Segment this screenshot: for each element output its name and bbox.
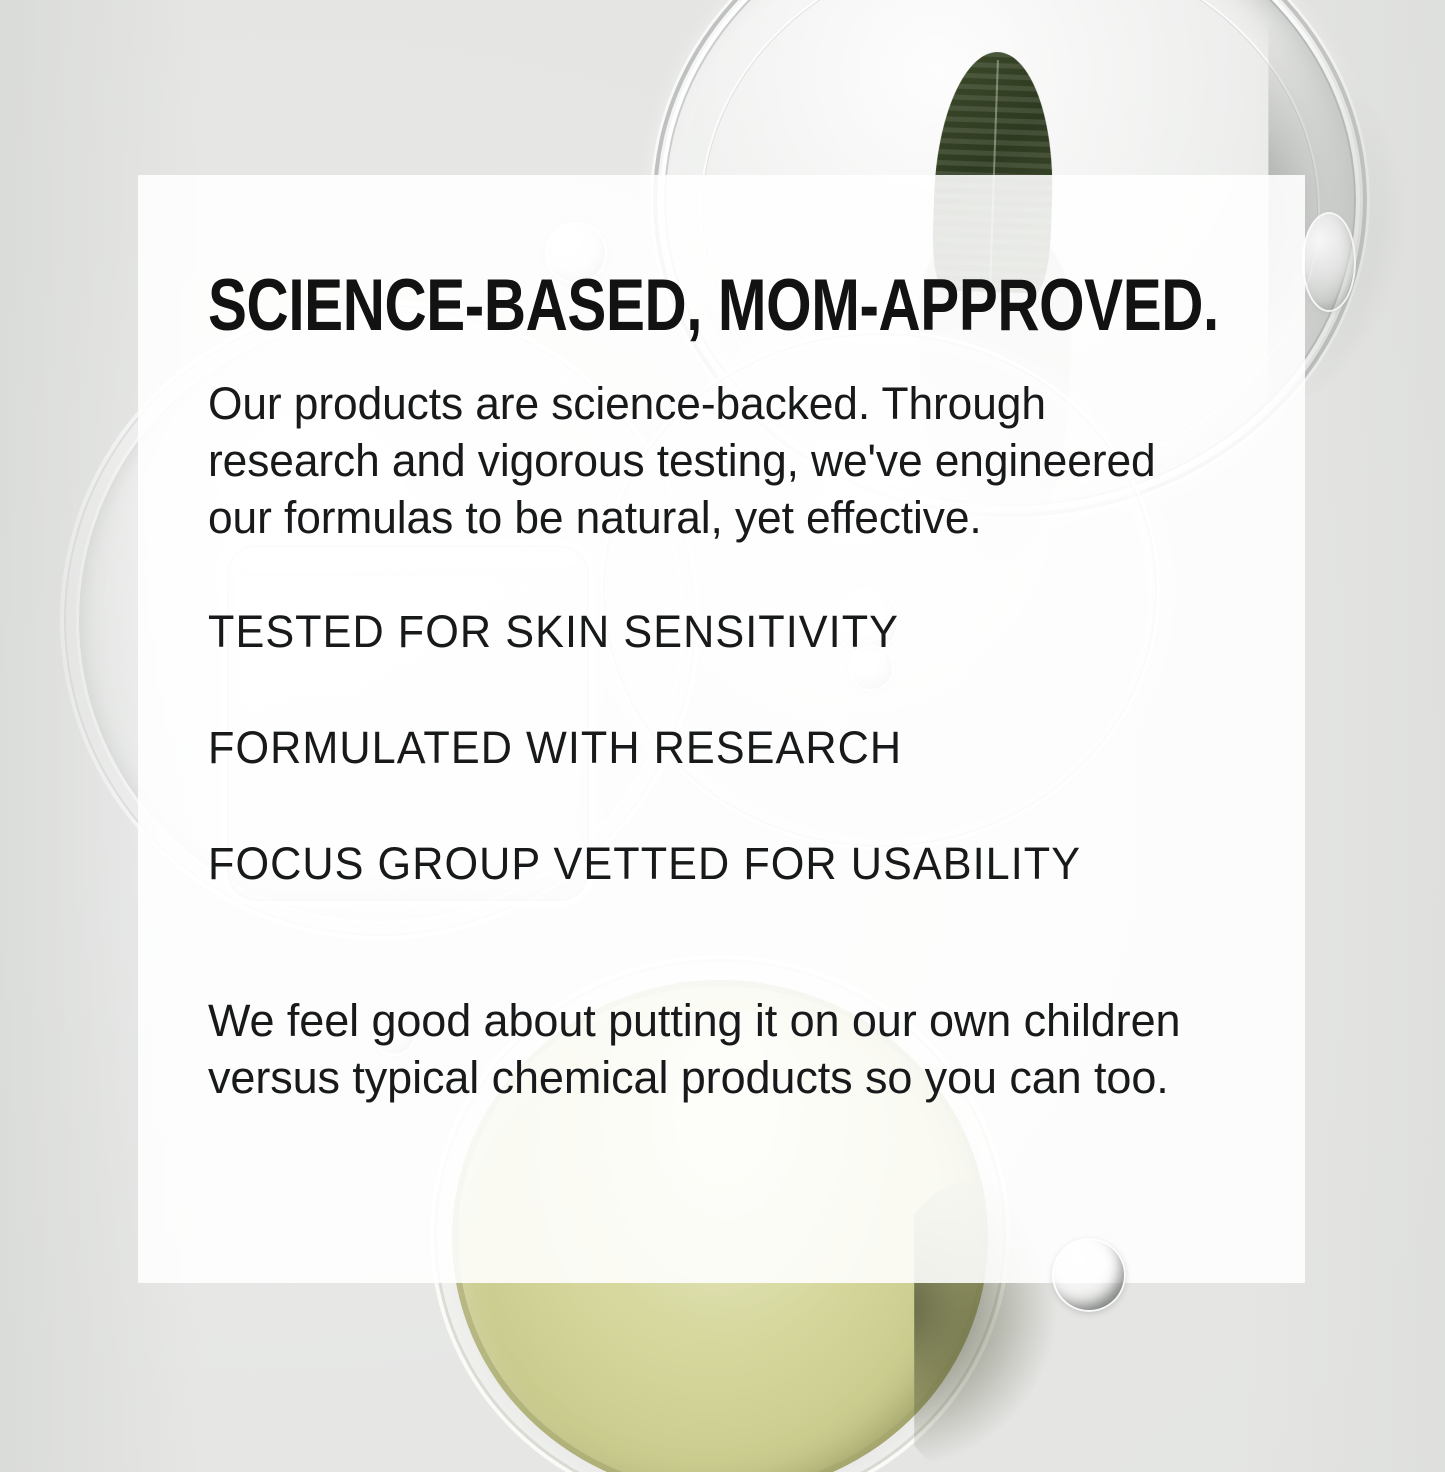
promotional-graphic: SCIENCE-BASED, MOM-APPROVED. Our product… [0,0,1445,1472]
page-title: SCIENCE-BASED, MOM-APPROVED. [208,272,1086,339]
feature-item-usability: FOCUS GROUP VETTED FOR USABILITY [208,841,1261,886]
water-droplet-icon [1302,212,1356,312]
feature-item-research: FORMULATED WITH RESEARCH [208,725,1261,770]
feature-item-skin-sensitivity: TESTED FOR SKIN SENSITIVITY [208,609,1261,654]
water-droplet-icon [1052,1238,1126,1312]
feature-list: TESTED FOR SKIN SENSITIVITY FORMULATED W… [208,609,1305,886]
intro-paragraph: Our products are science-backed. Through… [208,375,1193,546]
text-overlay-panel: SCIENCE-BASED, MOM-APPROVED. Our product… [138,175,1305,1283]
closing-paragraph: We feel good about putting it on our own… [208,992,1208,1106]
